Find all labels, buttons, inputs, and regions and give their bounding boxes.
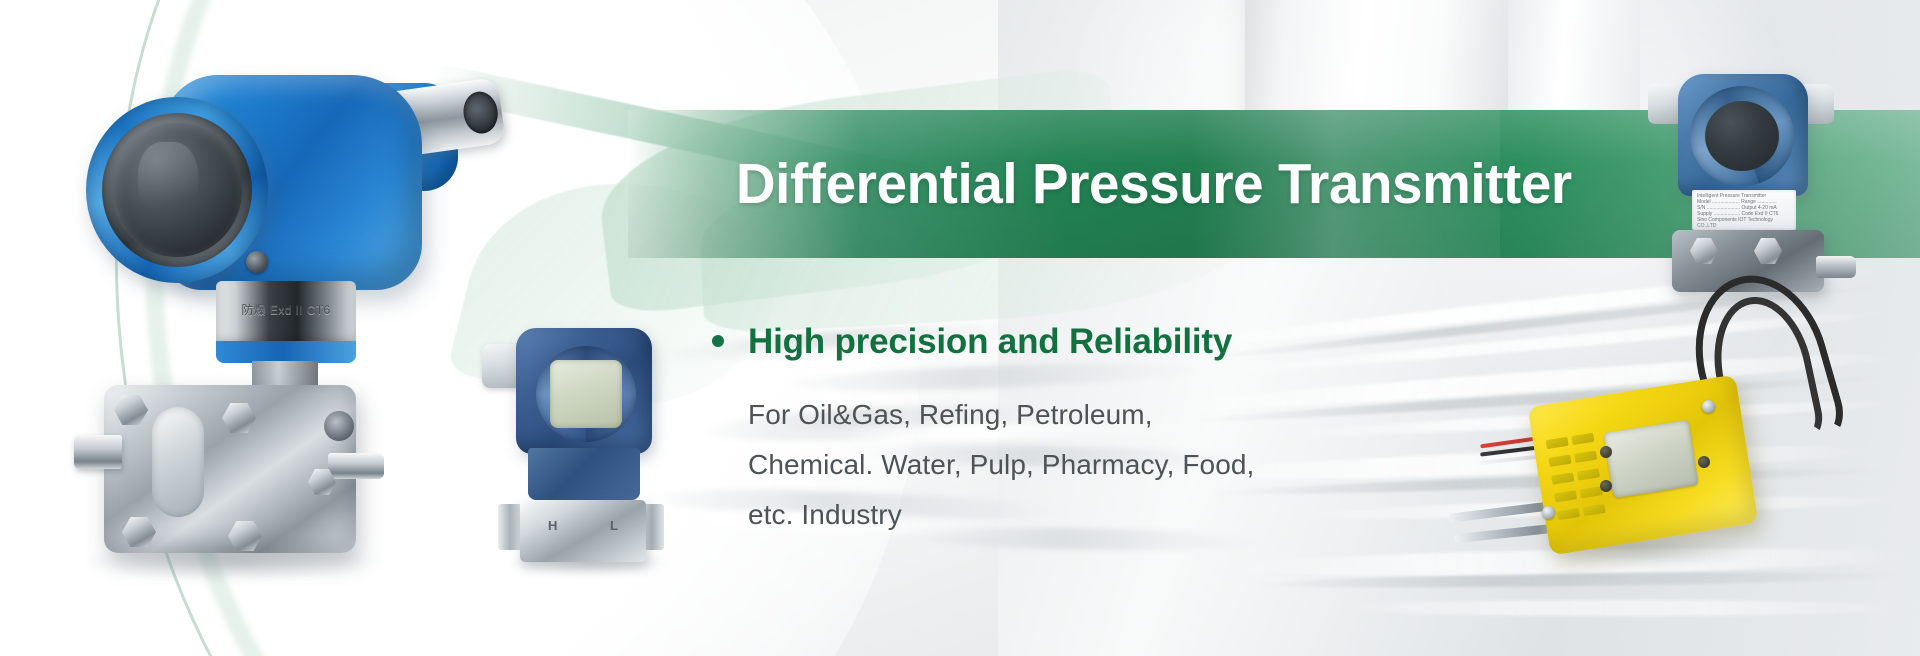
bullet-dot-icon [712,335,724,347]
calibrator-key [1554,490,1577,502]
manifold-vent-valve [324,411,354,441]
application-line: etc. Industry [748,490,1352,540]
product-image-compact-transmitter: H L [480,318,690,610]
flange-process-port [1816,256,1856,278]
transmitter-lock-screw [246,251,268,273]
compact-valve-port-labels: H L [520,518,646,533]
calibrator-key [1551,472,1574,484]
transmitter-collar-blue [216,341,356,363]
right-display-glass [1705,101,1779,171]
right-display-bezel [1690,86,1794,186]
transmitter-certification-collar: 防爆 Exd II CT6 [216,281,356,347]
calibrator-button [1600,480,1612,492]
calibrator-button [1698,456,1710,468]
calibrator-key [1577,468,1600,480]
compact-display-bezel [536,346,636,442]
transmitter-bezel-inner [102,113,252,267]
calibrator-key [1557,508,1580,520]
transmitter-bezel [86,97,268,283]
calibrator-key [1574,451,1597,463]
compact-lcd-screen [550,360,622,428]
calibrator-screw [1542,506,1555,519]
right-nameplate: Intelligent Pressure Transmitter Model .… [1692,190,1796,230]
manifold-cover-plate [152,407,204,517]
transmitter-certification-label: 防爆 Exd II CT6 [216,301,356,318]
compact-valve-stem-left [498,504,522,550]
product-image-main-transmitter: 防爆 Exd II CT6 [70,55,490,595]
transmitter-display-glass [112,123,242,257]
manifold-process-port-right [328,453,384,479]
product-image-calibrator [1440,330,1780,610]
feature-bullet: High precision and Reliability [712,322,1352,362]
compact-transmitter-base [528,448,640,500]
copy-block: High precision and Reliability For Oil&G… [712,322,1352,540]
calibrator-screw [1702,400,1715,413]
application-line: Chemical. Water, Pulp, Pharmacy, Food, [748,440,1352,490]
feature-bullet-label: High precision and Reliability [748,322,1232,362]
application-list: For Oil&Gas, Refing, Petroleum, Chemical… [748,390,1352,540]
calibrator-key [1571,433,1594,445]
calibrator-key [1583,504,1606,516]
page-title: Differential Pressure Transmitter [736,151,1572,217]
port-label-low: L [610,518,618,533]
nameplate-line: Sino Components IOT Technology CO.,LTD [1697,217,1791,229]
manifold-process-port-left [74,435,122,469]
application-line: For Oil&Gas, Refing, Petroleum, [748,390,1352,440]
calibrator-lcd-screen [1603,420,1698,499]
calibrator-key [1548,455,1571,467]
calibrator-button [1600,446,1612,458]
product-banner: Differential Pressure Transmitter High p… [0,0,1920,656]
calibrator-key [1546,437,1569,449]
port-label-high: H [548,518,557,533]
